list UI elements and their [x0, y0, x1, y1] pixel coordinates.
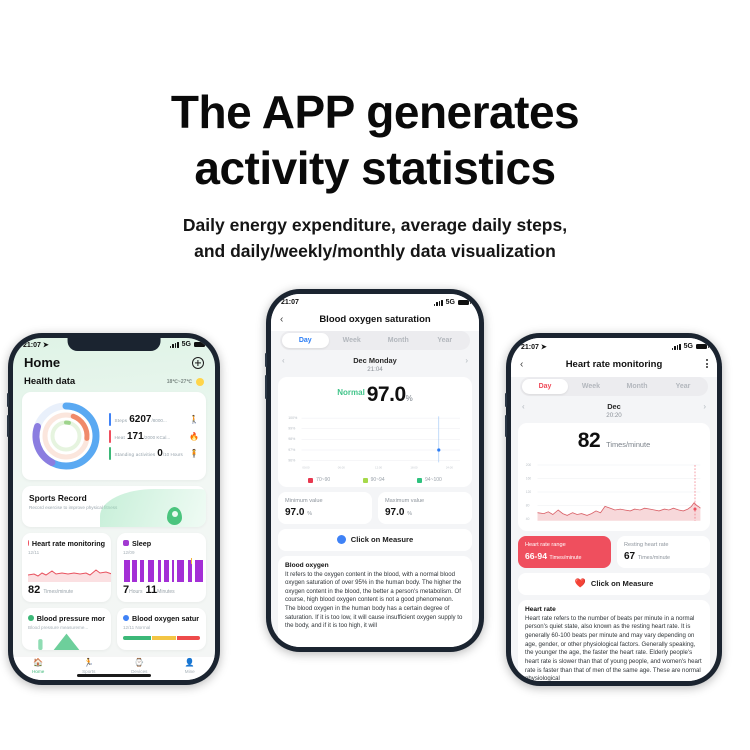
- card-title: Heart rate monitoring: [32, 539, 105, 548]
- card-heart-rate[interactable]: Heart rate monitoring 12/11 82 Times/min…: [22, 533, 111, 602]
- more-options-icon[interactable]: [696, 358, 708, 371]
- card-title: Blood oxygen satur: [132, 614, 199, 623]
- svg-text:99%: 99%: [288, 427, 296, 431]
- back-icon[interactable]: ‹: [520, 359, 532, 370]
- card-date: 12/11 Normal: [123, 625, 200, 630]
- screen-title: Heart rate monitoring: [532, 359, 696, 370]
- heart-icon: ❤️: [575, 578, 586, 589]
- prev-date-icon[interactable]: ‹: [282, 356, 285, 365]
- period-segmented-control: Day Week Month Year: [280, 331, 470, 350]
- svg-text:24:00: 24:00: [446, 466, 454, 470]
- status-time: 21:07: [281, 299, 299, 306]
- card-title: Sleep: [132, 539, 151, 548]
- next-date-icon[interactable]: ›: [703, 402, 706, 411]
- tab-sports[interactable]: 🏃 Sports: [64, 659, 115, 674]
- svg-text:40: 40: [526, 517, 530, 521]
- network-label: 5G: [684, 343, 693, 350]
- heart-icon: [28, 540, 29, 546]
- subtitle: Daily energy expenditure, average daily …: [0, 212, 750, 265]
- measure-time: 21:04: [271, 366, 479, 373]
- hr-unit: Times/minute: [606, 440, 650, 449]
- bp-graphic: [28, 630, 105, 650]
- screen-title: Blood oxygen saturation: [292, 314, 458, 325]
- card-key: Minimum value: [285, 498, 365, 506]
- home-icon: 🏠: [13, 659, 64, 667]
- health-stats-list: Steps 6207/8000... 🚶 Heat 171/2000 KCal.…: [109, 413, 199, 460]
- heart-rate-area-chart: 200160 12080 40: [524, 457, 704, 527]
- subtitle-line-2: and daily/weekly/monthly data visualizat…: [0, 238, 750, 264]
- add-icon[interactable]: [192, 357, 204, 369]
- phone-right: 21:07 ➤ 5G ‹ Heart rate monitoring Day W…: [506, 333, 722, 686]
- moon-icon: [123, 540, 129, 546]
- status-bar: 21:07 ➤ 5G: [511, 338, 717, 355]
- health-summary-card[interactable]: Steps 6207/8000... 🚶 Heat 171/2000 KCal.…: [22, 392, 206, 480]
- segment-week[interactable]: Week: [568, 379, 614, 394]
- heart-rate-stats-row: Heart rate range 66-94 Times/minute Rest…: [518, 536, 710, 568]
- signal-icon: [672, 344, 681, 350]
- phone-center: 21:07 5G ‹ Blood oxygen saturation Day W…: [266, 289, 484, 652]
- svg-text:12:00: 12:00: [375, 466, 383, 470]
- page-title: The APP generates activity statistics: [0, 84, 750, 196]
- card-value: 7Hours 11Minutes: [123, 584, 200, 596]
- spo2-minmax-row: Minimum value 97.0 % Maximum value 97.0 …: [278, 492, 472, 524]
- heart-rate-sparkline: [28, 558, 111, 582]
- card-title: Blood pressure mor: [37, 614, 105, 623]
- mini-card-row-2: Blood pressure mor Blood pressure measur…: [22, 608, 206, 650]
- home-indicator: [77, 674, 151, 677]
- legend-item: 94~100: [417, 477, 442, 483]
- status-time: 21:07 ➤: [521, 343, 547, 351]
- weather-temp: 18℃~27℃: [167, 379, 192, 385]
- info-heading: Heart rate: [525, 606, 703, 613]
- title-line-2: activity statistics: [194, 142, 555, 194]
- devices-icon: ⌚: [114, 659, 165, 667]
- back-icon[interactable]: ‹: [280, 314, 292, 325]
- phone-left-screen: 21:07 ➤ 5G Home Health data 18℃~27℃: [13, 338, 215, 680]
- home-title-label: Home: [24, 355, 60, 370]
- prev-date-icon[interactable]: ‹: [522, 402, 525, 411]
- svg-text:80: 80: [526, 504, 530, 508]
- segment-day[interactable]: Day: [282, 333, 329, 348]
- measure-button[interactable]: ❤️ Click on Measure: [518, 573, 710, 595]
- info-body: Heart rate refers to the number of beats…: [525, 615, 703, 681]
- spo2-unit: %: [406, 394, 413, 403]
- status-time: 21:07 ➤: [23, 341, 49, 349]
- sports-icon: 🏃: [64, 659, 115, 667]
- stat-heat: Heat 171/2000 KCal... 🔥: [109, 430, 199, 443]
- card-key: Resting heart rate: [624, 542, 703, 550]
- info-panel: Heart rate Heart rate refers to the numb…: [518, 600, 710, 681]
- phone-left: 21:07 ➤ 5G Home Health data 18℃~27℃: [8, 333, 220, 685]
- battery-icon: [696, 344, 707, 350]
- stat-value: 0/10 Hours: [157, 448, 182, 459]
- stat-standing: Standing activities 0/10 Hours 🧍: [109, 447, 199, 460]
- svg-text:06:00: 06:00: [338, 466, 346, 470]
- resting-heart-rate-card: Resting heart rate 67 Times/minute: [617, 536, 710, 568]
- signal-icon: [170, 342, 179, 348]
- hr-value: 82: [578, 429, 600, 452]
- svg-text:00:00: 00:00: [302, 466, 310, 470]
- person-icon: 👤: [165, 659, 216, 667]
- stat-name: Heat: [115, 435, 126, 440]
- stat-name: Steps: [115, 418, 128, 423]
- weather-widget: 18℃~27℃: [167, 378, 204, 386]
- status-bar: 21:07 ➤ 5G: [13, 338, 215, 351]
- stat-name: Standing activities: [115, 452, 156, 457]
- measure-time: 20:20: [511, 412, 717, 419]
- health-data-label: Health data: [24, 376, 75, 387]
- card-value: 66-94 Times/minute: [525, 551, 604, 561]
- segment-year[interactable]: Year: [422, 333, 469, 348]
- segment-year[interactable]: Year: [660, 379, 706, 394]
- subtitle-line-1: Daily energy expenditure, average daily …: [0, 212, 750, 238]
- stand-icon: 🧍: [189, 449, 199, 458]
- network-label: 5G: [446, 299, 455, 306]
- svg-text:96%: 96%: [288, 458, 296, 462]
- tab-mine[interactable]: 👤 Mine: [165, 659, 216, 674]
- card-blood-pressure[interactable]: Blood pressure mor Blood pressure measur…: [22, 608, 111, 650]
- tab-home[interactable]: 🏠 Home: [13, 659, 64, 674]
- segment-month[interactable]: Month: [375, 333, 422, 348]
- info-body: It refers to the oxygen content in the b…: [285, 571, 465, 631]
- home-header: Home: [13, 351, 215, 376]
- svg-text:97%: 97%: [288, 448, 296, 452]
- heart-rate-chart-card: 82Times/minute 200160 12080 40: [518, 423, 710, 531]
- location-arrow-icon: ➤: [41, 342, 49, 349]
- current-date: Dec: [607, 402, 621, 411]
- next-date-icon[interactable]: ›: [465, 356, 468, 365]
- tab-label: Mine: [165, 669, 216, 674]
- svg-text:120: 120: [526, 490, 532, 494]
- segment-month[interactable]: Month: [614, 379, 660, 394]
- location-arrow-icon: ➤: [539, 344, 547, 351]
- phone-right-screen: 21:07 ➤ 5G ‹ Heart rate monitoring Day W…: [511, 338, 717, 681]
- measure-label: Click on Measure: [351, 535, 413, 544]
- status-badge: Normal: [337, 388, 365, 397]
- svg-text:98%: 98%: [288, 437, 296, 441]
- card-sleep[interactable]: Sleep 12/09: [117, 533, 206, 602]
- current-date: Dec Monday: [353, 356, 397, 365]
- activity-rings: [29, 399, 103, 473]
- card-value: 82 Times/minute: [28, 584, 105, 596]
- sleep-bars-chart: [123, 558, 206, 582]
- spo2-reading: Normal 97.0%: [284, 383, 466, 407]
- spo2-chart-card: Normal 97.0% 100%99% 98%97% 96%: [278, 377, 472, 487]
- walk-icon: 🚶: [189, 415, 199, 424]
- network-label: 5G: [182, 341, 191, 348]
- nav-bar: ‹ Blood oxygen saturation: [271, 311, 479, 331]
- stat-value: 6207/8000...: [129, 414, 167, 425]
- minimum-value-card: Minimum value 97.0 %: [278, 492, 372, 524]
- card-value: 67 Times/minute: [624, 551, 703, 562]
- measure-button[interactable]: Click on Measure: [278, 529, 472, 551]
- info-panel: Blood oxygen It refers to the oxygen con…: [278, 556, 472, 647]
- card-blood-oxygen[interactable]: Blood oxygen satur 12/11 Normal: [117, 608, 206, 650]
- card-key: Heart rate range: [525, 542, 604, 550]
- tab-label: Home: [13, 669, 64, 674]
- card-value: 97.0 %: [385, 507, 465, 518]
- svg-text:18:00: 18:00: [410, 466, 418, 470]
- bp-icon: [28, 615, 34, 621]
- spo2-legend: 70~90 90~94 94~100: [284, 473, 466, 483]
- status-bar: 21:07 5G: [271, 294, 479, 311]
- spo2-measure-icon: [337, 535, 346, 544]
- phone-center-screen: 21:07 5G ‹ Blood oxygen saturation Day W…: [271, 294, 479, 647]
- card-key: Maximum value: [385, 498, 465, 506]
- legend-item: 70~90: [308, 477, 330, 483]
- location-pin-icon: [167, 507, 182, 525]
- svg-text:160: 160: [526, 477, 532, 481]
- sun-icon: [196, 378, 204, 386]
- spo2-line-chart: 100%99% 98%97% 96% 00:0006:00: [284, 411, 466, 473]
- card-date: 12/11: [28, 550, 105, 555]
- mini-card-row-1: Heart rate monitoring 12/11 82 Times/min…: [22, 533, 206, 602]
- battery-icon: [458, 300, 469, 306]
- heart-rate-reading: 82Times/minute: [524, 429, 704, 453]
- card-date: 12/09: [123, 550, 200, 555]
- info-heading: Blood oxygen: [285, 562, 465, 569]
- stat-steps: Steps 6207/8000... 🚶: [109, 413, 199, 426]
- stat-value: 171/2000 KCal...: [127, 431, 170, 442]
- health-data-header: Health data 18℃~27℃: [13, 376, 215, 392]
- battery-icon: [194, 342, 205, 348]
- spo2-value: 97.0: [367, 383, 406, 406]
- tab-devices[interactable]: ⌚ Devices: [114, 659, 165, 674]
- flame-icon: 🔥: [189, 432, 199, 441]
- heart-rate-range-card: Heart rate range 66-94 Times/minute: [518, 536, 611, 568]
- measure-label: Click on Measure: [591, 579, 653, 588]
- spo2-icon: [123, 615, 129, 621]
- svg-text:200: 200: [526, 463, 532, 467]
- title-line-1: The APP generates: [171, 86, 579, 138]
- signal-icon: [434, 300, 443, 306]
- headline-block: The APP generates activity statistics Da…: [0, 84, 750, 265]
- maximum-value-card: Maximum value 97.0 %: [378, 492, 472, 524]
- period-segmented-control: Day Week Month Year: [520, 377, 708, 396]
- sports-record-card[interactable]: Sports Record Record exercise to improve…: [22, 486, 206, 526]
- svg-text:100%: 100%: [288, 416, 298, 420]
- segment-week[interactable]: Week: [329, 333, 376, 348]
- segment-day[interactable]: Day: [522, 379, 568, 394]
- legend-item: 90~94: [363, 477, 385, 483]
- date-navigator: ‹ Dec ›: [511, 402, 717, 412]
- date-navigator: ‹ Dec Monday ›: [271, 356, 479, 366]
- nav-bar: ‹ Heart rate monitoring: [511, 355, 717, 377]
- card-value: 97.0 %: [285, 507, 365, 518]
